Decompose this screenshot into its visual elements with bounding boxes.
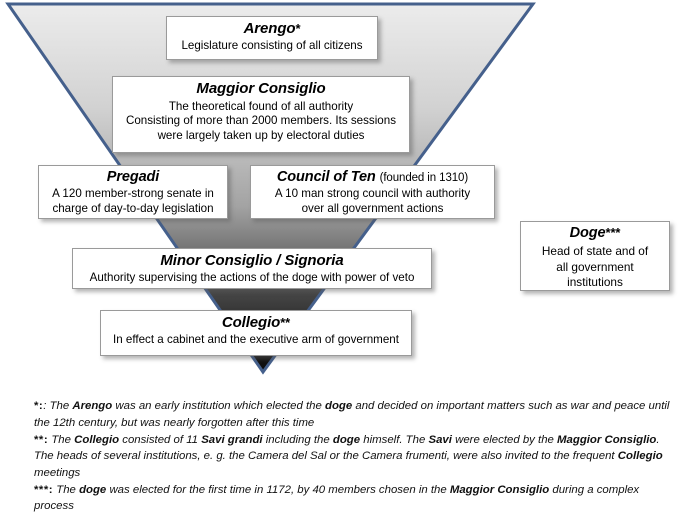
footnote-2: **: The Collegio consisted of 11 Savi gr… bbox=[34, 432, 678, 482]
footnotes-block: *:: The Arengo was an early institution … bbox=[34, 398, 678, 515]
node-desc-line: charge of day-to-day legislation bbox=[45, 202, 221, 217]
node-desc-line: Legislature consisting of all citizens bbox=[173, 39, 371, 54]
node-box-doge[interactable]: Doge*** Head of state and of all governm… bbox=[520, 221, 670, 291]
node-sup-doge: *** bbox=[605, 225, 620, 240]
node-title-maggior-consiglio: Maggior Consiglio bbox=[119, 80, 403, 98]
node-desc-doge: Head of state and of all government inst… bbox=[527, 244, 663, 291]
node-box-collegio[interactable]: Collegio** In effect a cabinet and the e… bbox=[100, 310, 412, 356]
node-desc-arengo: Legislature consisting of all citizens bbox=[173, 39, 371, 54]
footnote-text: : The Arengo was an early institution wh… bbox=[34, 400, 669, 429]
node-box-arengo[interactable]: Arengo* Legislature consisting of all ci… bbox=[166, 16, 378, 60]
node-desc-minor-consiglio-signoria: Authority supervising the actions of the… bbox=[79, 271, 425, 286]
node-desc-collegio: In effect a cabinet and the executive ar… bbox=[107, 333, 405, 348]
node-desc-line: all government bbox=[527, 260, 663, 276]
node-desc-line: institutions bbox=[527, 275, 663, 291]
node-desc-line: A 120 member-strong senate in bbox=[45, 187, 221, 202]
node-desc-line: In effect a cabinet and the executive ar… bbox=[107, 333, 405, 348]
node-desc-maggior-consiglio: The theoretical found of all authority C… bbox=[119, 100, 403, 144]
node-desc-line: Authority supervising the actions of the… bbox=[79, 271, 425, 286]
node-sup-arengo: * bbox=[295, 21, 300, 36]
footnote-1: *:: The Arengo was an early institution … bbox=[34, 398, 678, 431]
node-desc-line: The theoretical found of all authority bbox=[119, 100, 403, 115]
node-box-pregadi[interactable]: Pregadi A 120 member-strong senate in ch… bbox=[38, 165, 228, 219]
node-desc-council-of-ten: A 10 man strong council with authority o… bbox=[257, 187, 488, 217]
footnote-text: The Collegio consisted of 11 Savi grandi… bbox=[34, 434, 663, 479]
node-desc-line: Consisting of more than 2000 members. It… bbox=[119, 114, 403, 129]
venice-government-diagram: Arengo* Legislature consisting of all ci… bbox=[0, 0, 700, 498]
footnote-marker: *: bbox=[34, 400, 43, 412]
node-title-note-council-of-ten: (founded in 1310) bbox=[380, 172, 468, 184]
node-box-minor-consiglio-signoria[interactable]: Minor Consiglio / Signoria Authority sup… bbox=[72, 248, 432, 289]
footnote-marker: ***: bbox=[34, 484, 53, 496]
node-desc-line: A 10 man strong council with authority bbox=[257, 187, 488, 202]
node-title-doge: Doge*** bbox=[527, 225, 663, 242]
footnote-3: ***: The doge was elected for the first … bbox=[34, 482, 678, 515]
footnote-marker: **: bbox=[34, 434, 48, 446]
node-desc-line: were largely taken up by electoral dutie… bbox=[119, 129, 403, 144]
node-desc-pregadi: A 120 member-strong senate in charge of … bbox=[45, 187, 221, 217]
node-title-pregadi: Pregadi bbox=[45, 169, 221, 186]
node-sup-collegio: ** bbox=[280, 315, 290, 330]
node-box-council-of-ten[interactable]: Council of Ten (founded in 1310) A 10 ma… bbox=[250, 165, 495, 219]
node-desc-line: over all government actions bbox=[257, 202, 488, 217]
node-title-collegio: Collegio** bbox=[107, 314, 405, 332]
node-title-council-of-ten: Council of Ten (founded in 1310) bbox=[257, 169, 488, 186]
node-title-arengo: Arengo* bbox=[173, 20, 371, 38]
node-desc-line: Head of state and of bbox=[527, 244, 663, 260]
node-box-maggior-consiglio[interactable]: Maggior Consiglio The theoretical found … bbox=[112, 76, 410, 153]
node-title-minor-consiglio-signoria: Minor Consiglio / Signoria bbox=[79, 252, 425, 270]
